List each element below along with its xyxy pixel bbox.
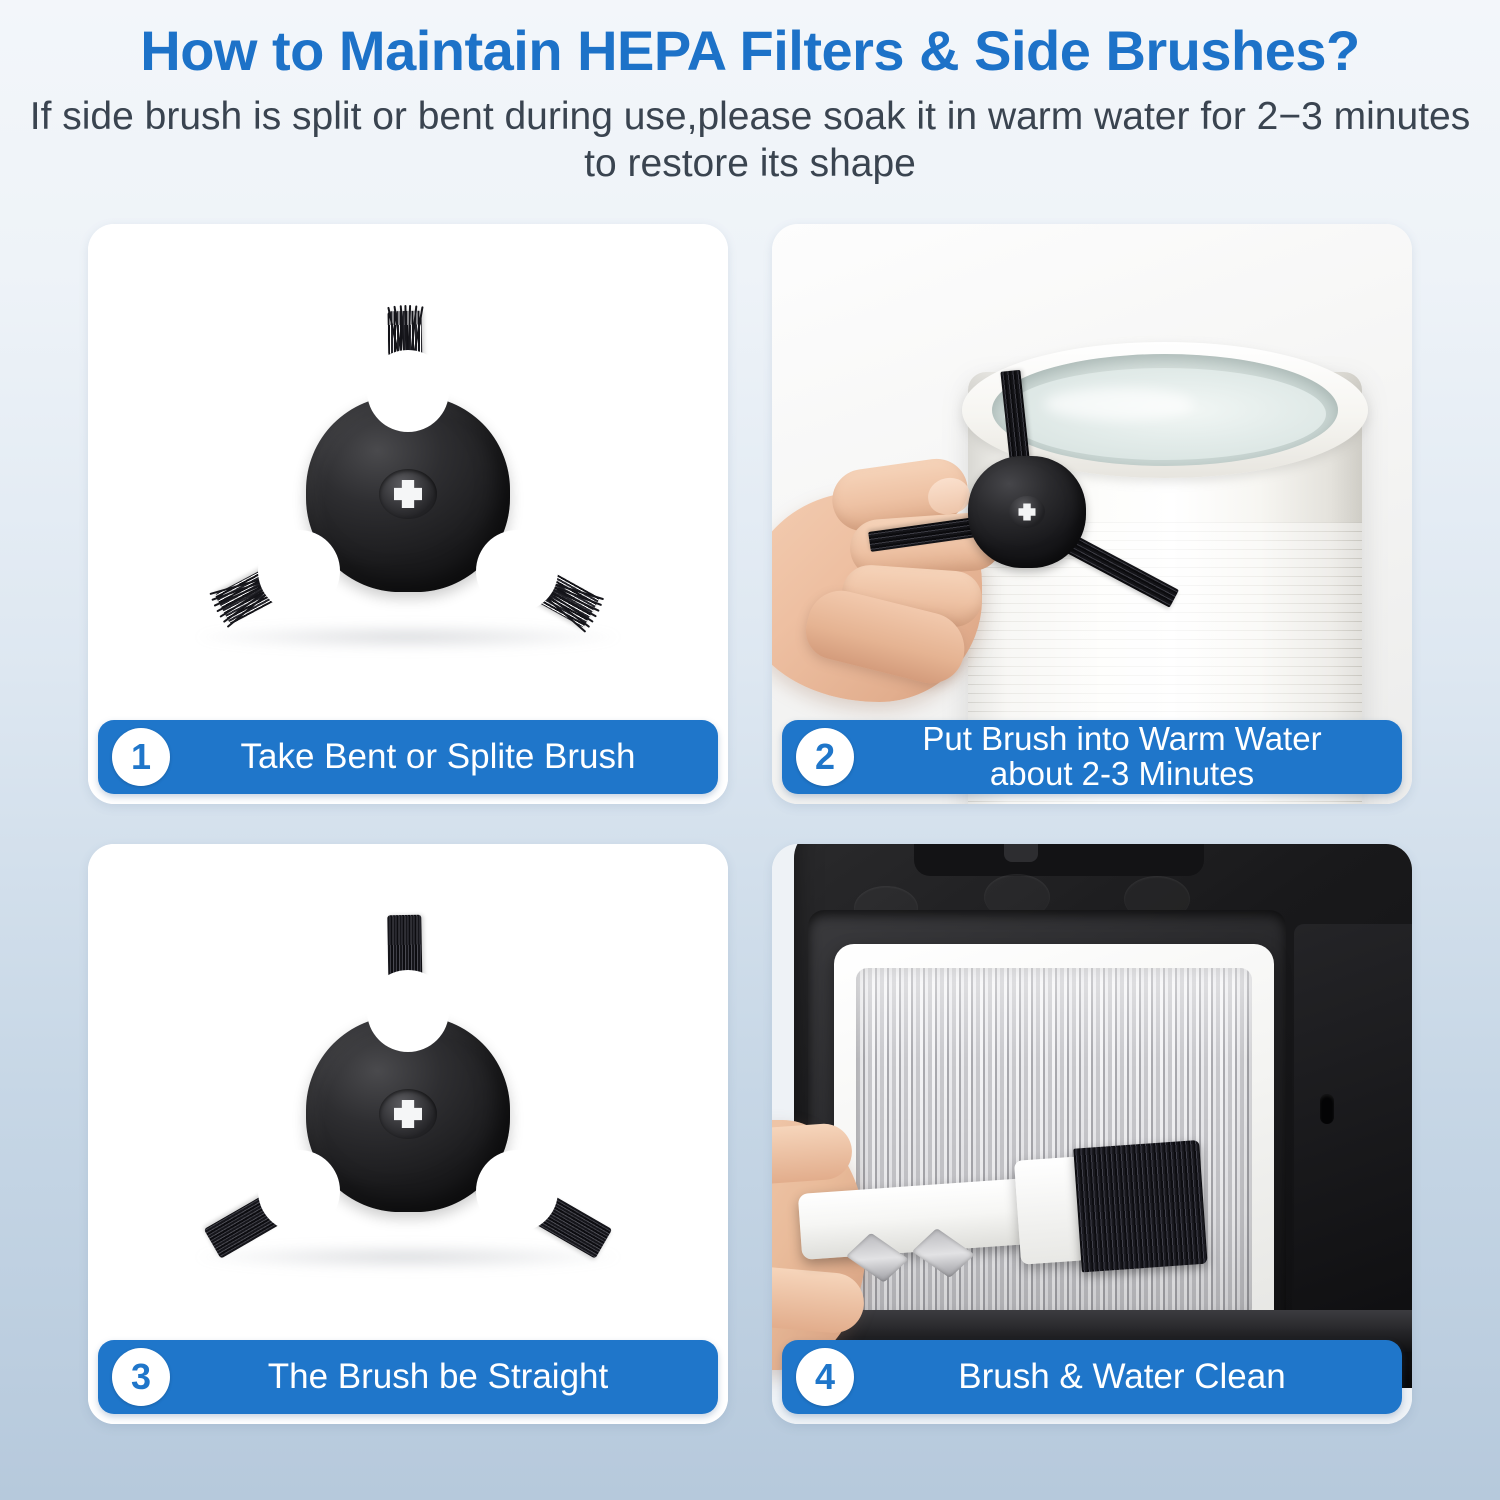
- hub-notch: [258, 1150, 340, 1232]
- step-card-2[interactable]: 2 Put Brush into Warm Water about 2-3 Mi…: [772, 224, 1412, 804]
- side-brush-straight-image: [88, 844, 728, 1424]
- housing-clip: [1004, 844, 1038, 862]
- hub-notch: [476, 530, 558, 612]
- hub-notch: [258, 530, 340, 612]
- step-4-illustration: [772, 844, 1412, 1424]
- hub-notch: [476, 1150, 558, 1232]
- brush-hub: [306, 1016, 510, 1212]
- step-number-badge: 1: [112, 728, 170, 786]
- warm-water-surface: [1004, 368, 1326, 460]
- step-4-caption-bar: 4 Brush & Water Clean: [782, 1340, 1402, 1414]
- side-brush-graphic: [178, 884, 638, 1344]
- step-number-badge: 2: [796, 728, 854, 786]
- step-caption: The Brush be Straight: [170, 1359, 718, 1396]
- step-card-4[interactable]: 4 Brush & Water Clean: [772, 844, 1412, 1424]
- step-1-caption-bar: 1 Take Bent or Splite Brush: [98, 720, 718, 794]
- housing-latch: [914, 844, 1204, 876]
- step-2-illustration: [772, 224, 1412, 804]
- brush-hub: [306, 396, 510, 592]
- hub-shaft-recess: [379, 1089, 437, 1139]
- steps-grid: 1 Take Bent or Splite Brush: [88, 224, 1412, 1424]
- brush-hub: [968, 456, 1086, 568]
- cleaning-brush-tool: [775, 1129, 1224, 1309]
- step-caption: Put Brush into Warm Water about 2-3 Minu…: [854, 722, 1402, 791]
- square-shaft-hole-icon: [1019, 504, 1036, 521]
- step-caption: Take Bent or Splite Brush: [170, 739, 718, 776]
- page-title: How to Maintain HEPA Filters & Side Brus…: [0, 22, 1500, 81]
- step-3-illustration: [88, 844, 728, 1424]
- hub-notch: [367, 970, 449, 1052]
- step-card-3[interactable]: 3 The Brush be Straight: [88, 844, 728, 1424]
- header: How to Maintain HEPA Filters & Side Brus…: [0, 0, 1500, 188]
- water-highlight: [1044, 388, 1194, 420]
- tool-cutout: [846, 1233, 909, 1283]
- side-brush-bent-image: [88, 224, 728, 804]
- side-brush-graphic: [178, 264, 638, 724]
- hub-shaft-recess: [379, 469, 437, 519]
- tool-bristles: [1073, 1140, 1207, 1272]
- square-shaft-hole-icon: [394, 480, 422, 508]
- step-card-1[interactable]: 1 Take Bent or Splite Brush: [88, 224, 728, 804]
- tool-cutout: [912, 1228, 975, 1278]
- housing-side-panel: [1294, 924, 1412, 1344]
- step-caption: Brush & Water Clean: [854, 1359, 1402, 1396]
- hub-shaft-recess: [1009, 496, 1045, 528]
- step-number-badge: 3: [112, 1348, 170, 1406]
- vent-slot: [1320, 1094, 1334, 1124]
- step-3-caption-bar: 3 The Brush be Straight: [98, 1340, 718, 1414]
- square-shaft-hole-icon: [394, 1100, 422, 1128]
- step-1-illustration: [88, 224, 728, 804]
- hub-notch: [367, 350, 449, 432]
- cup-interior: [992, 354, 1338, 466]
- robot-vacuum-housing: [794, 844, 1412, 1388]
- step-number-badge: 4: [796, 1348, 854, 1406]
- step-2-caption-bar: 2 Put Brush into Warm Water about 2-3 Mi…: [782, 720, 1402, 794]
- side-brush-held: [968, 456, 1088, 576]
- page-subtitle: If side brush is split or bent during us…: [0, 93, 1500, 188]
- tool-handle: [798, 1178, 1038, 1260]
